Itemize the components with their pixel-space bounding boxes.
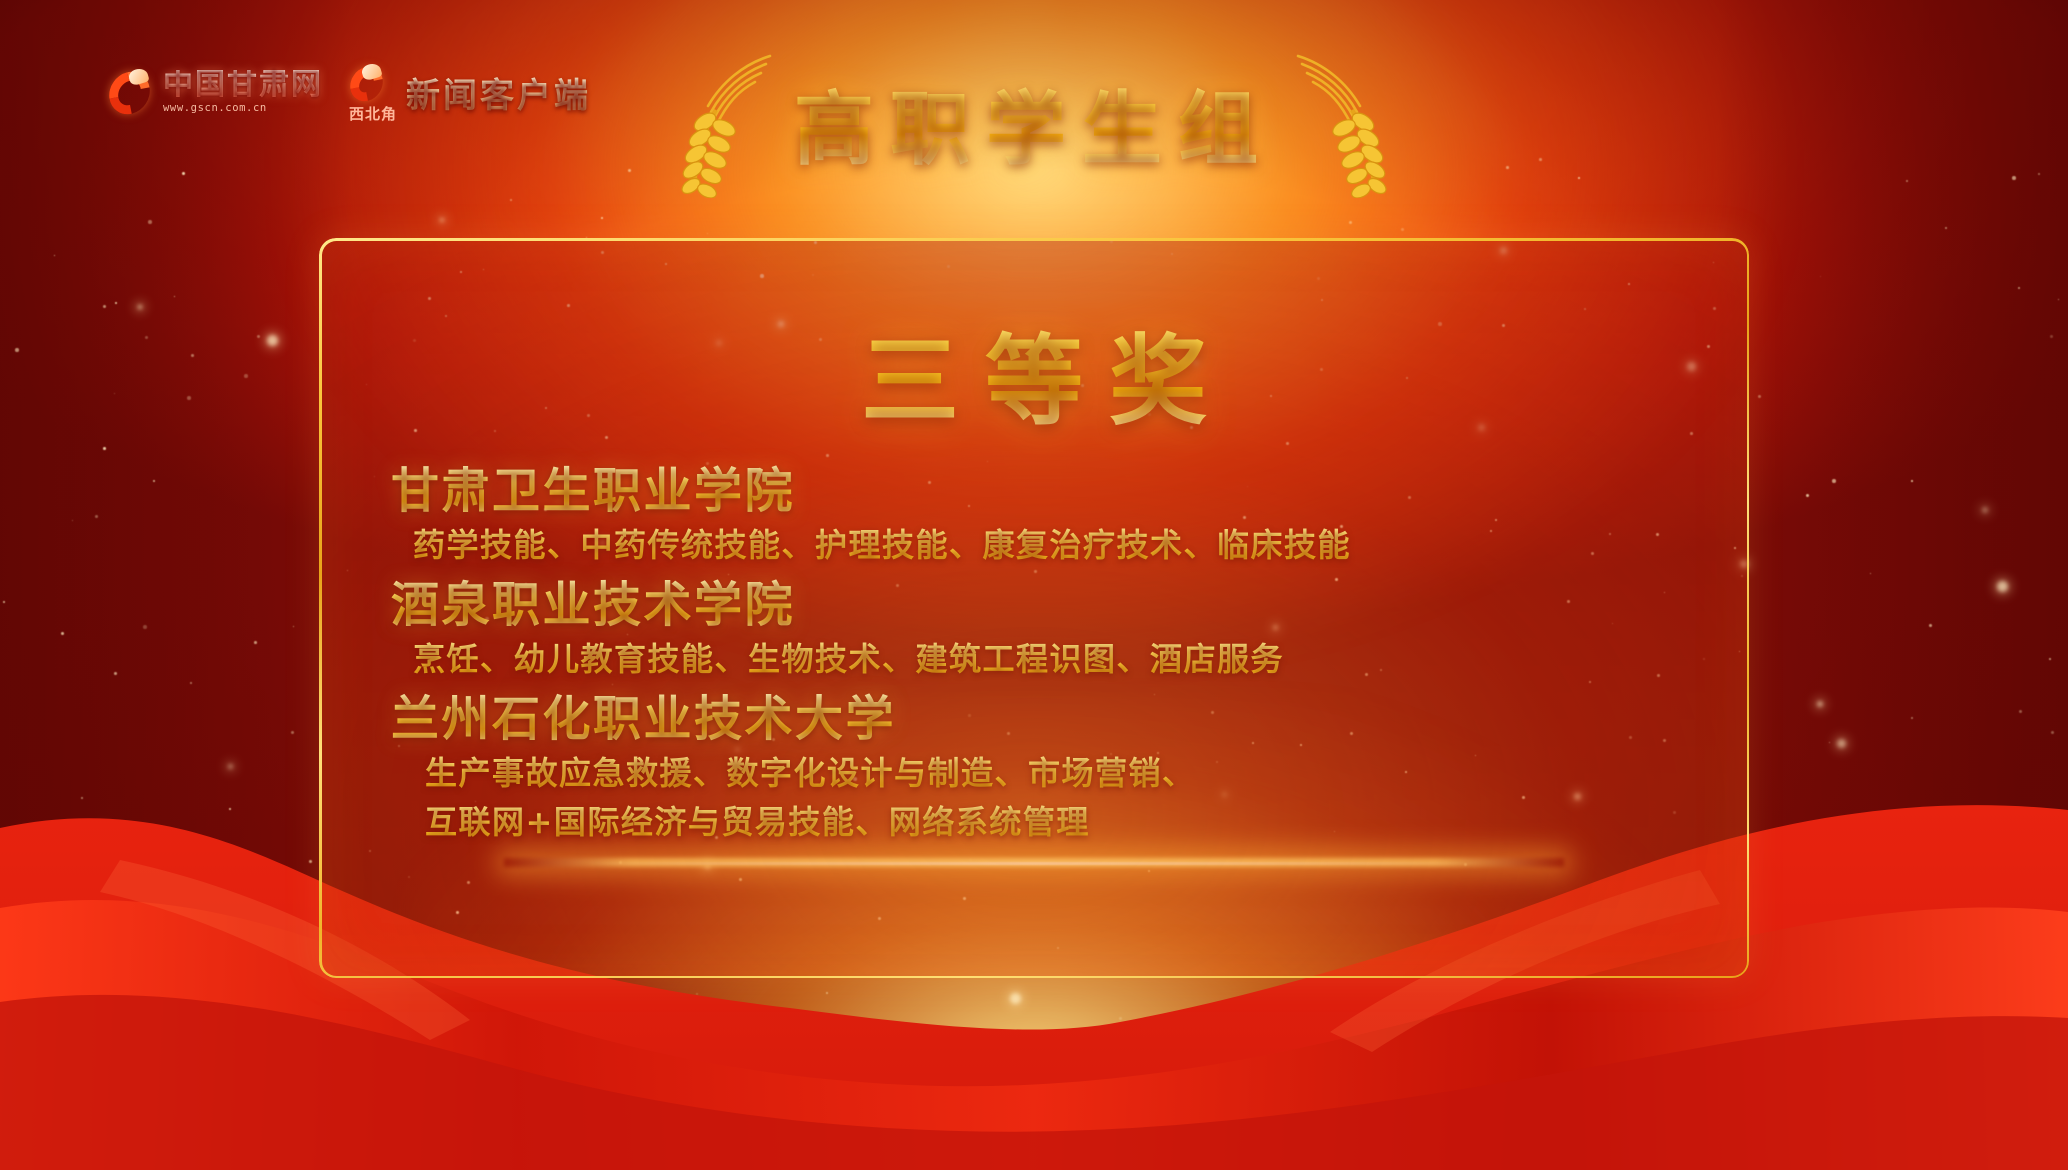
logo-gansu-text: 中国甘肃网 www.gscn.com.cn (163, 70, 323, 114)
logo-gansu-net: 中国甘肃网 www.gscn.com.cn (108, 67, 323, 117)
broadcaster-logos: 中国甘肃网 www.gscn.com.cn 西北角 新闻客户端 (108, 62, 591, 122)
wheat-ear-icon (674, 48, 782, 198)
award-panel: 三等奖 甘肃卫生职业学院 药学技能、中药传统技能、护理技能、康复治疗技术、临床技… (319, 238, 1749, 978)
scene-stage: 中国甘肃网 www.gscn.com.cn 西北角 新闻客户端 (0, 0, 2068, 1170)
list-item: 酒泉职业技术学院 烹饪、幼儿教育技能、生物技术、建筑工程识图、酒店服务 (391, 576, 1693, 684)
logo-gansu-name: 中国甘肃网 (163, 70, 323, 100)
list-item: 甘肃卫生职业学院 药学技能、中药传统技能、护理技能、康复治疗技术、临床技能 (391, 462, 1693, 570)
logo-gansu-url: www.gscn.com.cn (163, 103, 323, 114)
wheat-ear-icon (1286, 48, 1394, 198)
school-name: 兰州石化职业技术大学 (391, 690, 1693, 749)
school-majors: 药学技能、中药传统技能、护理技能、康复治疗技术、临床技能 (391, 521, 1693, 571)
page-title: 高职学生组 (788, 65, 1280, 181)
gansu-swoosh-icon (108, 67, 154, 117)
logo-xibeijun-text: 西北角 (349, 62, 397, 122)
school-name: 酒泉职业技术学院 (391, 576, 1693, 635)
winner-entry-list: 甘肃卫生职业学院 药学技能、中药传统技能、护理技能、康复治疗技术、临床技能 酒泉… (391, 462, 1693, 854)
xibeijun-swoosh-icon (349, 62, 387, 104)
school-name: 甘肃卫生职业学院 (391, 462, 1693, 521)
school-majors: 互联网+国际经济与贸易技能、网络系统管理 (391, 798, 1693, 848)
list-item: 兰州石化职业技术大学 生产事故应急救援、数字化设计与制造、市场营销、 互联网+国… (391, 690, 1693, 848)
school-majors: 生产事故应急救援、数字化设计与制造、市场营销、 (391, 749, 1693, 799)
header-group-title-block: 高职学生组 (574, 48, 1494, 198)
award-level-title: 三等奖 (321, 302, 1747, 444)
logo-xibeijun-name: 西北角 (349, 107, 397, 122)
school-majors: 烹饪、幼儿教育技能、生物技术、建筑工程识图、酒店服务 (391, 635, 1693, 685)
logo-news-app-name: 新闻客户端 (406, 68, 591, 117)
logo-news-client: 西北角 新闻客户端 (349, 62, 591, 122)
